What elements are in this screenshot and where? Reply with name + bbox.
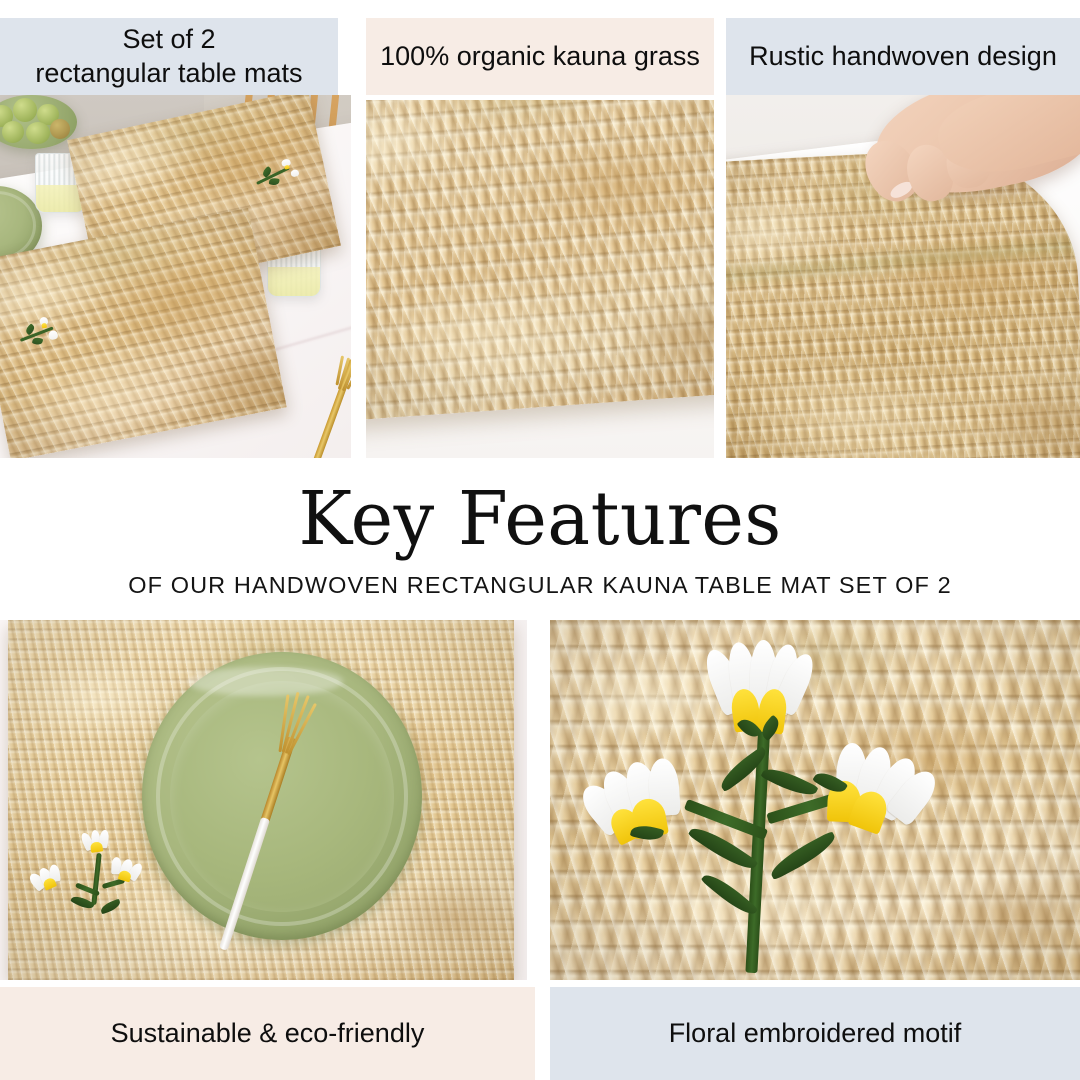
banner-sustainable-eco-friendly: Sustainable & eco-friendly <box>0 987 535 1080</box>
page-subtitle: OF OUR HANDWOVEN RECTANGULAR KAUNA TABLE… <box>128 572 951 599</box>
product-infographic: Set of 2 rectangular table mats 100% org… <box>0 0 1080 1080</box>
emb-flower-top <box>80 828 115 856</box>
sage-green-plate <box>142 652 421 940</box>
banner-rustic-label: Rustic handwoven design <box>749 40 1057 74</box>
banner-set-of-2-text: Set of 2 rectangular table mats <box>35 23 302 91</box>
photo-weave-closeup <box>366 100 714 458</box>
banner-organic-kauna-grass: 100% organic kauna grass <box>366 18 714 95</box>
banner-floral-label: Floral embroidered motif <box>669 1017 962 1051</box>
floral-embroidery-motif <box>635 642 921 973</box>
banner-rustic-handwoven-design: Rustic handwoven design <box>726 18 1080 95</box>
banner-organic-label: 100% organic kauna grass <box>380 40 700 74</box>
key-features-section: Key Features OF OUR HANDWOVEN RECTANGULA… <box>0 462 1080 618</box>
mat-corner-macro <box>366 100 714 422</box>
banner-floral-embroidered-motif: Floral embroidered motif <box>550 987 1080 1080</box>
banner-set-of-2: Set of 2 rectangular table mats <box>0 18 338 95</box>
photo-plate-on-mat <box>0 620 527 980</box>
photo-floral-embroidery-closeup <box>550 620 1080 980</box>
emb-flower-top-large <box>709 642 812 741</box>
photo-hand-lifting-mat <box>726 95 1080 458</box>
page-title: Key Features <box>298 482 781 556</box>
embroidered-flower-sprig <box>47 832 152 926</box>
banner-sustainable-label: Sustainable & eco-friendly <box>111 1017 425 1051</box>
banner-set-of-2-line1: Set of 2 <box>122 24 215 54</box>
photo-styled-table-setting <box>0 95 351 458</box>
banner-set-of-2-line2: rectangular table mats <box>35 58 302 88</box>
